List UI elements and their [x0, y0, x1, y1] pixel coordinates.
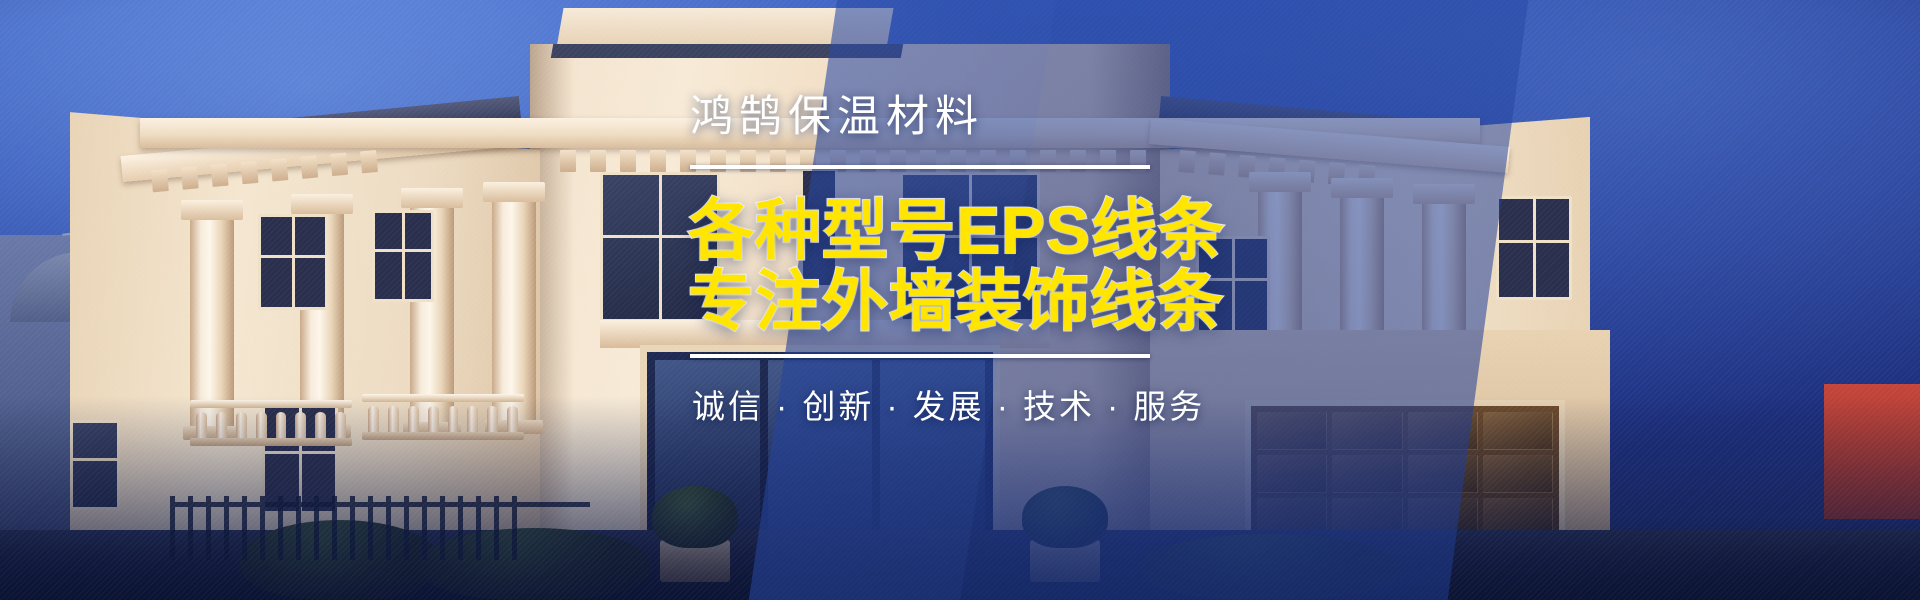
headline-group: 各种型号EPS线条 专注外墙装饰线条: [688, 195, 1320, 338]
brand-name: 鸿鹄保温材料: [690, 96, 1320, 139]
headline-line-2: 专注外墙装饰线条: [688, 266, 1320, 337]
promo-banner: 鸿鹄保温材料 各种型号EPS线条 专注外墙装饰线条 诚信 · 创新 · 发展 ·…: [0, 0, 1920, 600]
divider-rule-bottom: [690, 354, 1150, 358]
tower-parapet-shadow: [551, 44, 903, 58]
divider-rule-top: [690, 165, 1150, 169]
window-lit-left-upper-2: [372, 210, 434, 302]
tower-parapet-cap: [556, 8, 893, 48]
tagline: 诚信 · 创新 · 发展 · 技术 · 服务: [692, 380, 1320, 428]
window-lit-right-far: [1496, 196, 1572, 300]
column-left-4: [492, 200, 536, 422]
headline-line-1: 各种型号EPS线条: [688, 195, 1320, 266]
banner-text-block: 鸿鹄保温材料 各种型号EPS线条 专注外墙装饰线条 诚信 · 创新 · 发展 ·…: [680, 96, 1320, 428]
window-lit-left-upper: [258, 214, 328, 310]
